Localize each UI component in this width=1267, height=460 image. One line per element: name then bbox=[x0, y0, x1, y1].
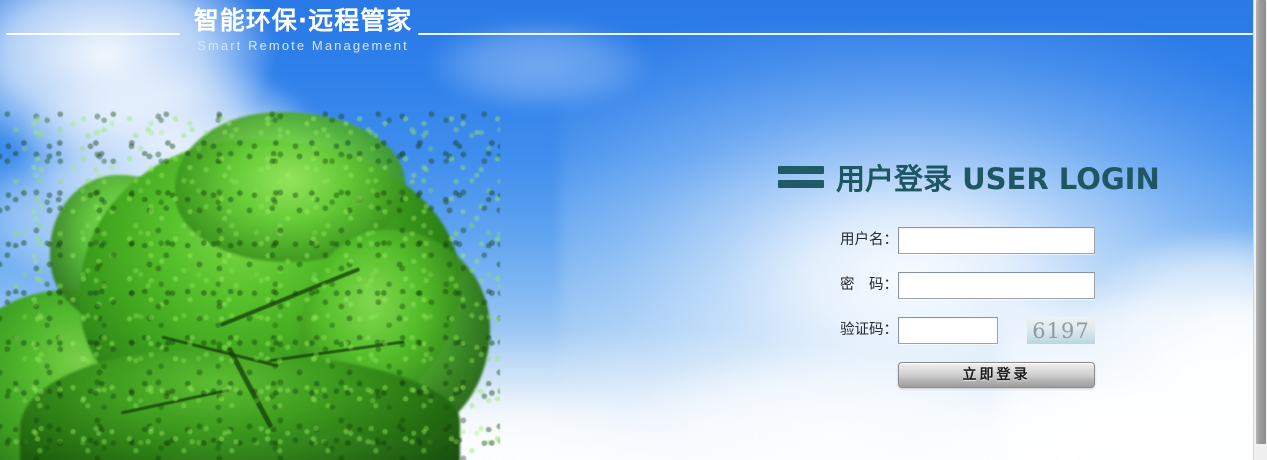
username-input[interactable] bbox=[898, 227, 1095, 254]
login-panel: 用户登录 USER LOGIN 用户名： 密 码： 验证码： 6197 bbox=[778, 155, 1178, 199]
page-viewport: 智能环保·远程管家 Smart Remote Management 用户登录 U… bbox=[0, 0, 1253, 460]
login-heading-text: 用户登录 USER LOGIN bbox=[836, 156, 1160, 198]
submit-row: 立即登录 bbox=[840, 362, 1170, 388]
brand-title: 智能环保·远程管家 bbox=[188, 6, 418, 36]
vertical-scrollbar[interactable] bbox=[1253, 0, 1267, 460]
password-row: 密 码： bbox=[840, 272, 1170, 299]
password-input[interactable] bbox=[898, 272, 1095, 299]
header-rule-right bbox=[418, 33, 1253, 35]
login-page: 智能环保·远程管家 Smart Remote Management 用户登录 U… bbox=[0, 0, 1267, 460]
captcha-image[interactable]: 6197 bbox=[1027, 317, 1095, 344]
captcha-row: 验证码： 6197 bbox=[840, 317, 1170, 344]
login-heading: 用户登录 USER LOGIN bbox=[778, 155, 1178, 199]
password-label: 密 码： bbox=[840, 272, 898, 295]
scrollbar-thumb[interactable] bbox=[1256, 0, 1266, 444]
login-submit-button[interactable]: 立即登录 bbox=[898, 362, 1095, 388]
captcha-input[interactable] bbox=[898, 317, 998, 344]
header-rule-left bbox=[6, 33, 180, 35]
equals-mark-bar-bottom bbox=[778, 180, 824, 188]
brand-subtitle: Smart Remote Management bbox=[188, 37, 418, 55]
brand-block: 智能环保·远程管家 Smart Remote Management bbox=[188, 6, 418, 55]
captcha-label: 验证码： bbox=[840, 317, 898, 340]
login-form: 用户名： 密 码： 验证码： 6197 立即登录 bbox=[840, 227, 1170, 388]
page-header: 智能环保·远程管家 Smart Remote Management bbox=[0, 0, 1253, 64]
username-row: 用户名： bbox=[840, 227, 1170, 254]
equals-mark-icon bbox=[778, 166, 824, 188]
username-label: 用户名： bbox=[840, 227, 898, 250]
equals-mark-bar-top bbox=[778, 166, 824, 174]
